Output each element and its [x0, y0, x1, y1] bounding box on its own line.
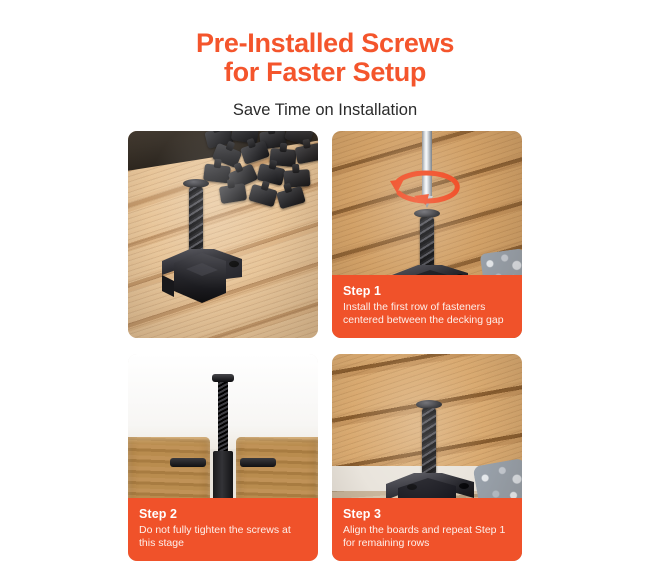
step-3-description: Align the boards and repeat Step 1 for r… [343, 524, 511, 550]
page-title-line-1: Pre-Installed Screws [196, 28, 454, 58]
step-3-caption: Step 3 Align the boards and repeat Step … [332, 498, 522, 561]
step-1-label: Step 1 [343, 284, 511, 299]
step-1-description: Install the first row of fasteners cente… [343, 301, 511, 327]
step-3-label: Step 3 [343, 507, 511, 522]
steps-grid: Step 1 Install the first row of fastener… [128, 131, 522, 561]
fastener-wing-left [170, 458, 206, 467]
page-subtitle: Save Time on Installation [0, 87, 650, 120]
step-2-description: Do not fully tighten the screws at this … [139, 524, 307, 550]
page-title-line-2: for Faster Setup [0, 58, 650, 87]
fastener-wing-right [240, 458, 276, 467]
panel-step-3: Step 3 Align the boards and repeat Step … [332, 354, 522, 561]
step-2-caption: Step 2 Do not fully tighten the screws a… [128, 498, 318, 561]
step-1-caption: Step 1 Install the first row of fastener… [332, 275, 522, 338]
panel-step-2: Step 2 Do not fully tighten the screws a… [128, 354, 318, 561]
header: Pre-Installed Screws for Faster Setup Sa… [0, 0, 650, 120]
page-title: Pre-Installed Screws for Faster Setup [0, 0, 650, 87]
panel-step-1: Step 1 Install the first row of fastener… [332, 131, 522, 338]
product-overview-scene [128, 131, 318, 338]
panel-vignette [128, 131, 318, 338]
step-2-label: Step 2 [139, 507, 307, 522]
panel-product-overview [128, 131, 318, 338]
